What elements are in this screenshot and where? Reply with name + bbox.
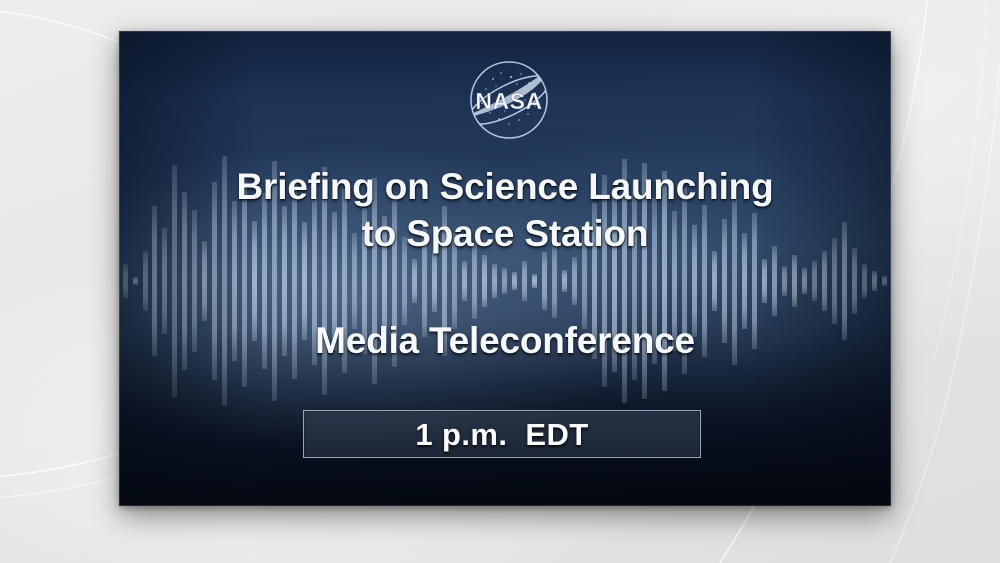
- time-badge-label: 1 p.m. EDT: [415, 419, 588, 450]
- screenshot-stage: NASA Briefing on Science Launching to Sp…: [0, 0, 1000, 563]
- title-line-2: to Space Station: [119, 210, 891, 257]
- slide-title: Briefing on Science Launching to Space S…: [119, 163, 891, 257]
- slide-content: NASA Briefing on Science Launching to Sp…: [119, 31, 891, 506]
- nasa-meatball-icon: NASA: [449, 53, 569, 151]
- slide-subtitle: Media Teleconference: [119, 319, 891, 363]
- presentation-slide: NASA Briefing on Science Launching to Sp…: [119, 31, 891, 506]
- title-line-1: Briefing on Science Launching: [119, 163, 891, 210]
- time-badge: 1 p.m. EDT: [303, 410, 701, 458]
- nasa-wordmark: NASA: [475, 88, 542, 114]
